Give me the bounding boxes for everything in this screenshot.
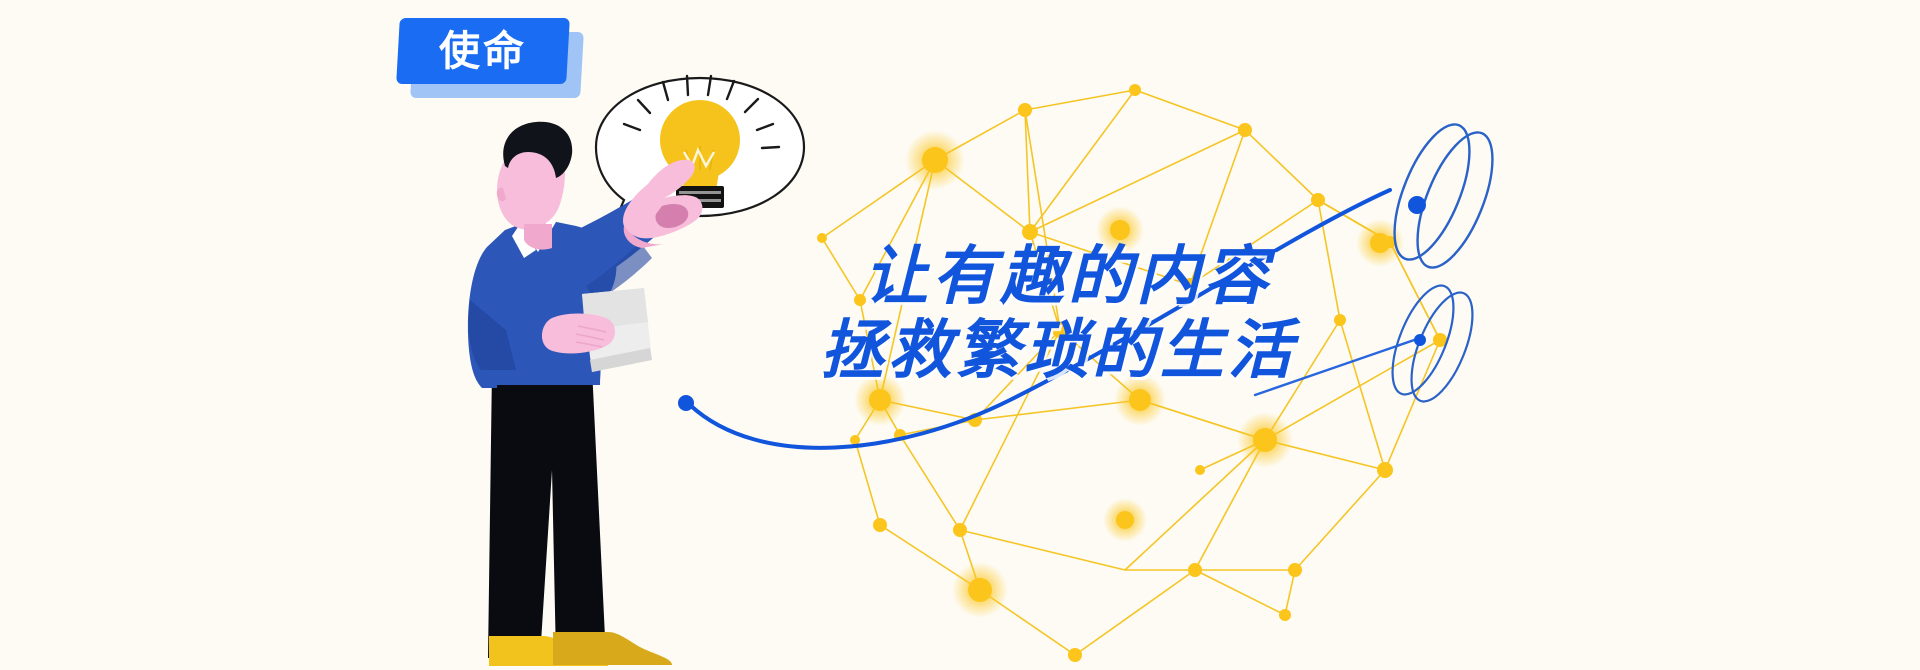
mission-banner: 让有趣的内容 拯救繁琐的生活 — [0, 0, 1920, 670]
badge-layer: 使命 — [0, 0, 1920, 670]
mission-badge: 使命 — [398, 18, 568, 84]
badge-face: 使命 — [396, 18, 570, 84]
badge-label: 使命 — [439, 31, 527, 72]
